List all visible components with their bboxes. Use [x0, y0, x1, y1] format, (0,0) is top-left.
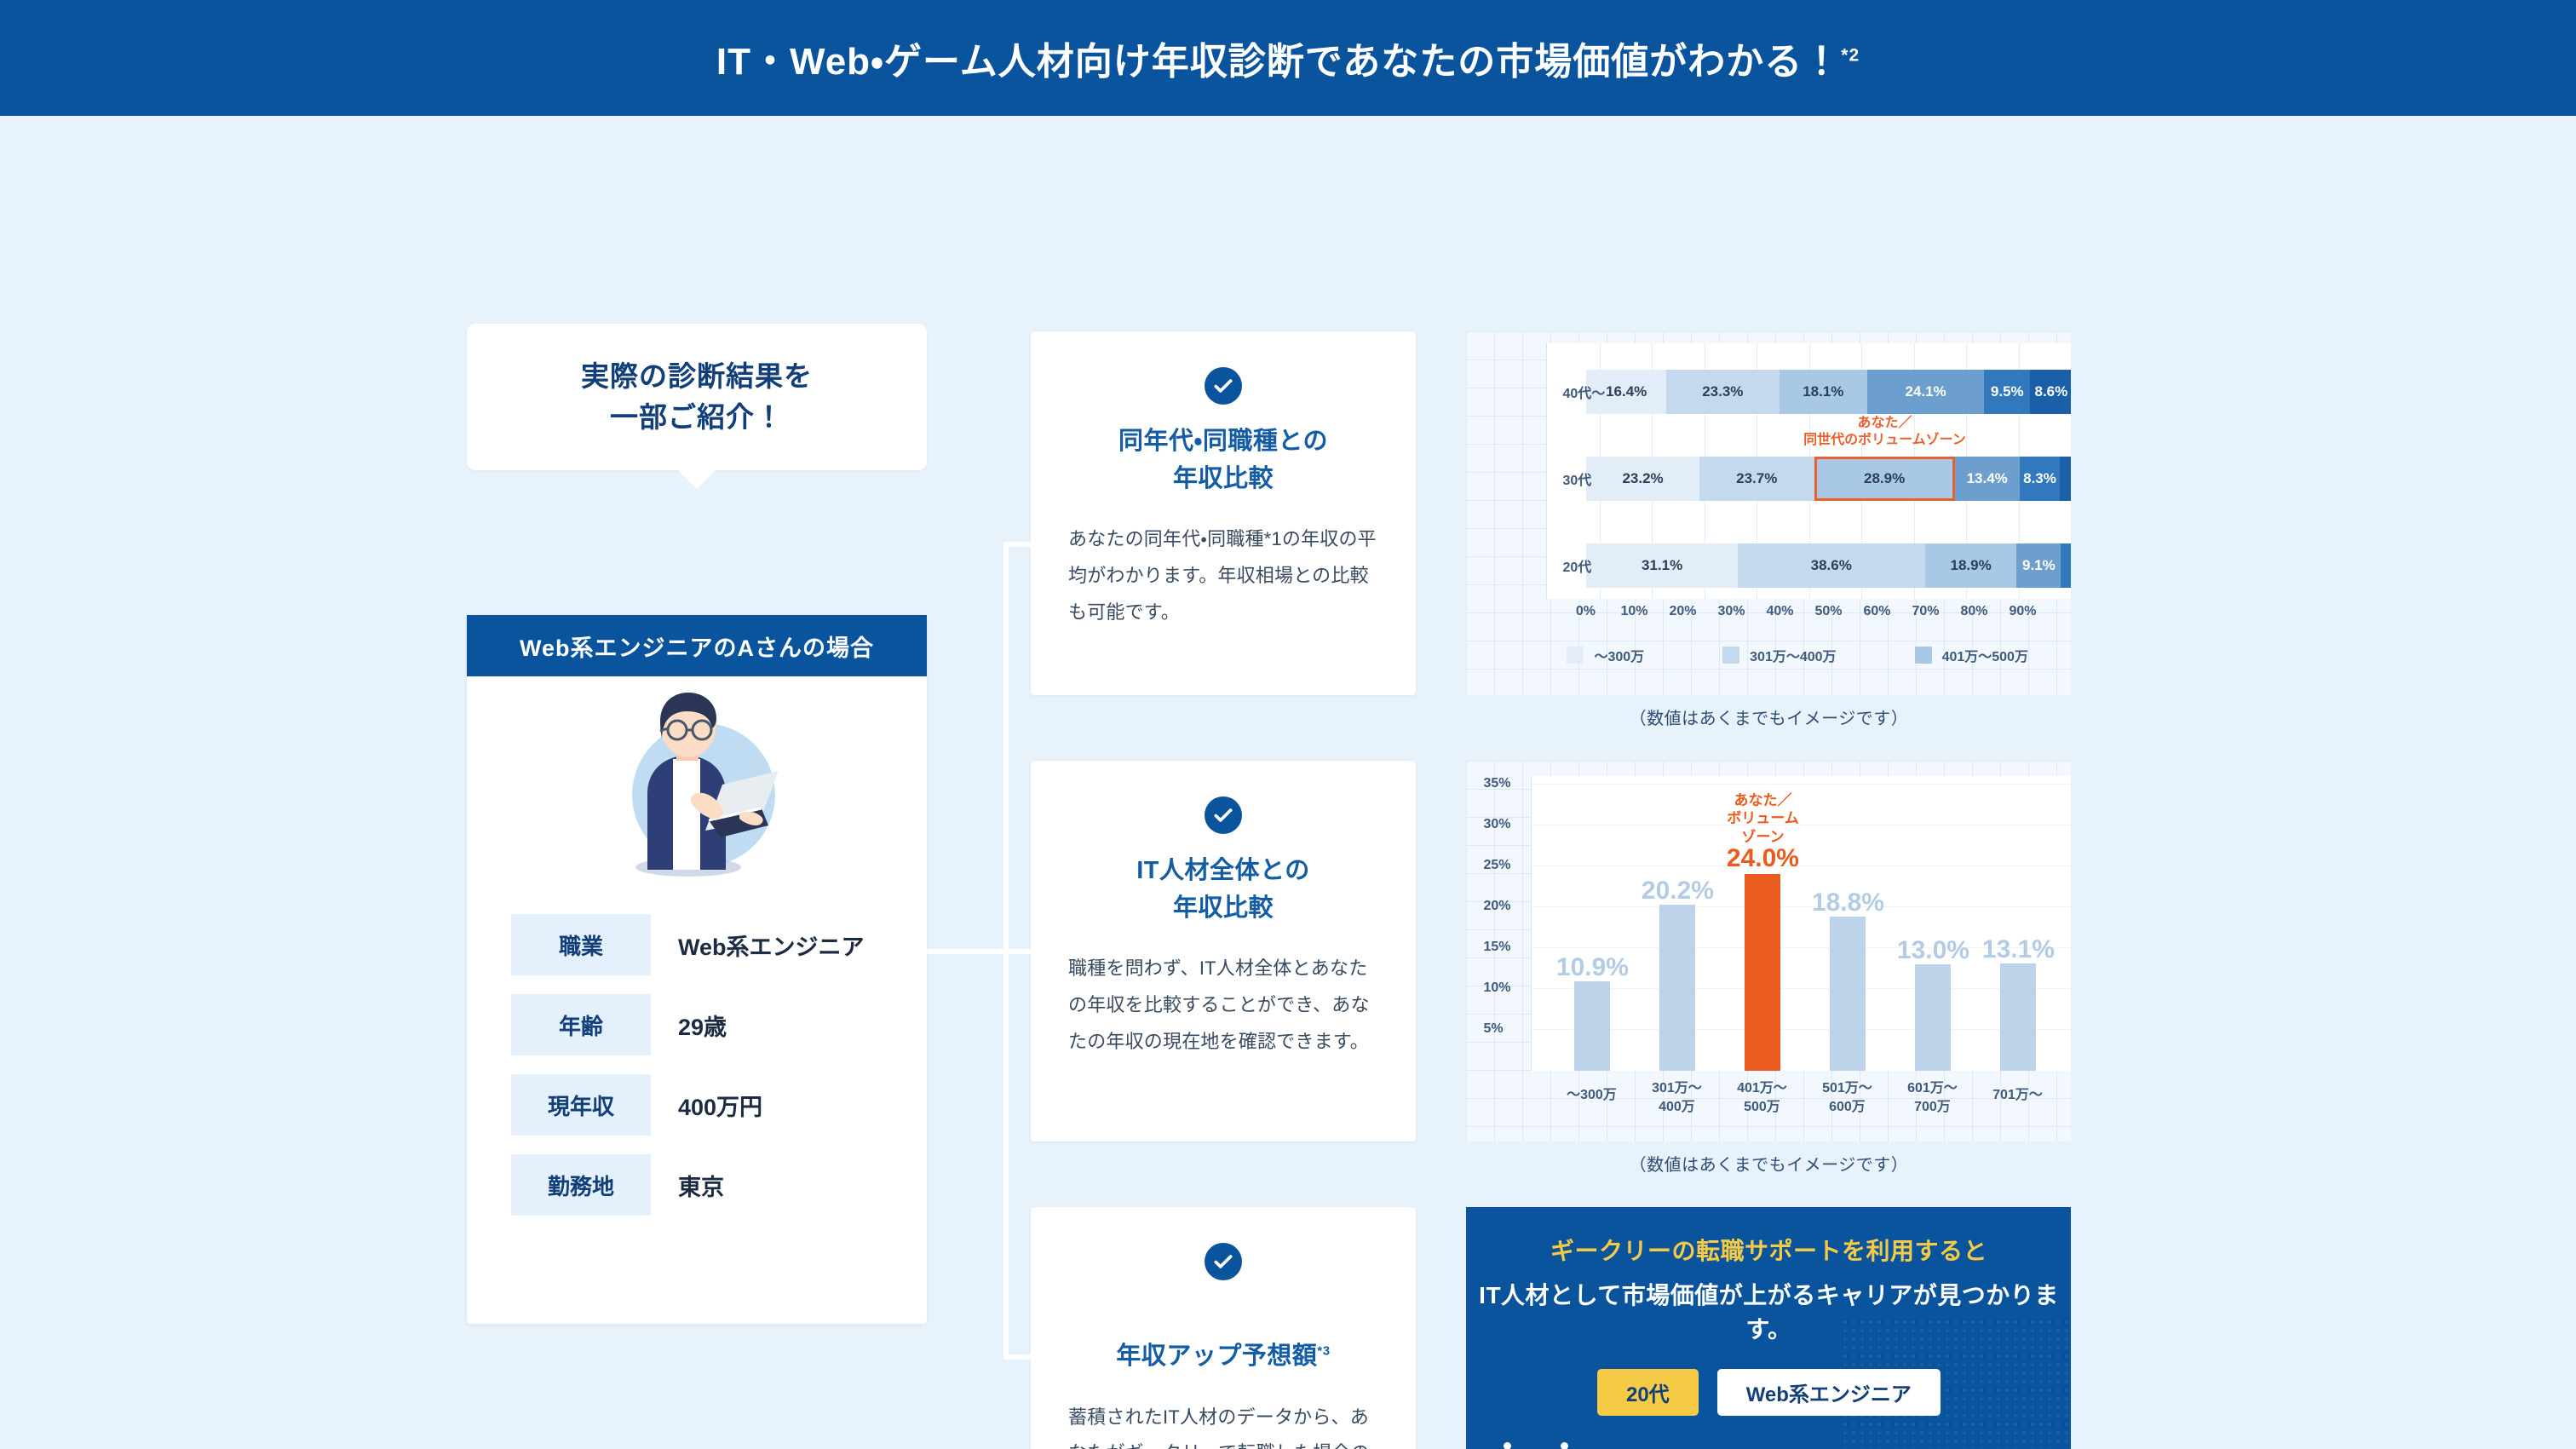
promo-tag-job: Web系エンジニア	[1717, 1369, 1941, 1416]
bar-segment	[2060, 457, 2071, 501]
legend-item: 301万～400万	[1722, 645, 1836, 665]
feature-card-1: 同年代・同職種との 年収比較 あなたの同年代・同職種*1の年収の平均がわかります…	[1031, 331, 1416, 695]
chart-1-category-label: 30代	[1562, 469, 1591, 489]
value-text: 18.8%	[1812, 888, 1884, 917]
feature-card-1-title: 同年代・同職種との 年収比較	[1068, 423, 1378, 497]
chart-2-panel: 10.9% 20.2% 24.0% 18.8% 13.0%	[1466, 761, 2071, 1141]
chart-1-xtick: 0%	[1576, 604, 1596, 619]
intro-bubble-line2: 一部ご紹介！	[610, 397, 784, 438]
chart-1-xtick: 70%	[1912, 604, 1939, 619]
intro-bubble: 実際の診断結果を 一部ご紹介！	[467, 324, 927, 470]
chart-2-value-label: 13.0%	[1897, 936, 1969, 965]
promo-line1: ギークリーの転職サポートを利用すると	[1466, 1233, 2071, 1267]
bar-segment: 24.1%	[1867, 370, 1984, 414]
xlabel-line1: 601万～	[1907, 1081, 1958, 1095]
value-text: 13.1%	[1982, 935, 2055, 963]
bar-segment: 9.5%	[1984, 370, 2030, 414]
page-header: IT・Web・ゲーム人材向け年収診断であなたの市場価値がわかる！*2	[0, 0, 2576, 116]
xlabel-line1: ～300万	[1567, 1088, 1617, 1102]
feature-card-3-title-footnote: *3	[1317, 1343, 1330, 1358]
xlabel-line1: 301万～	[1652, 1081, 1702, 1095]
promo-panel: ギークリーの転職サポートを利用すると IT人材として市場価値が上がるキャリアが見…	[1466, 1207, 2071, 1449]
table-row: 現年収 400万円	[511, 1065, 883, 1145]
chart-2-ytick: 5%	[1483, 1021, 1503, 1037]
profile-label: 現年収	[511, 1074, 651, 1136]
legend-swatch	[1915, 647, 1932, 664]
chart-1-xtick: 30%	[1717, 604, 1745, 619]
value-text: 10.9%	[1556, 953, 1629, 981]
chart-1-xaxis: 0% 10% 20% 30% 40% 50% 60% 70% 80% 90%	[1546, 604, 2071, 624]
bar-segment: 8.3%	[2020, 457, 2060, 501]
chart-2-ytick: 35%	[1483, 776, 1510, 791]
chart-1-xtick: 20%	[1669, 604, 1696, 619]
check-circle-icon	[1205, 1243, 1242, 1280]
page-title-text: IT・Web・ゲーム人材向け年収診断であなたの市場価値がわかる！	[716, 41, 1841, 83]
legend-label: ～300万	[1594, 645, 1644, 665]
profile-value: 29歳	[678, 1009, 727, 1042]
chart-2-xlabel: 301万～ 400万	[1652, 1079, 1702, 1116]
chart-2-value-label: 18.8%	[1812, 888, 1884, 917]
feature-card-3-desc: 蓄積されたIT人材のデータから、あなたがギークリーで転職した場合の年収アップ予想…	[1068, 1400, 1378, 1449]
chart-2-ytick: 25%	[1483, 858, 1510, 873]
table-row: 職業 Web系エンジニア	[511, 905, 883, 985]
zone-label-line2: ボリューム	[1727, 810, 1799, 826]
bar-segment: 23.3%	[1666, 370, 1780, 414]
bar-segment-highlight: 28.9%	[1814, 457, 1955, 501]
profile-label: 年齢	[511, 994, 651, 1055]
intro-bubble-tail	[678, 470, 716, 489]
chart-2-volume-zone-label: あなた／ ボリューム ゾーン	[1727, 791, 1799, 846]
value-text: 13.0%	[1897, 936, 1969, 964]
chart-2-bar	[1659, 905, 1695, 1071]
bar-segment: 13.4%	[1954, 457, 2019, 501]
xlabel-line1: 501万～	[1822, 1081, 1872, 1095]
value-text: 20.2%	[1642, 877, 1714, 905]
chart-2-ytick: 15%	[1483, 940, 1510, 955]
feature-card-2: IT人材全体との 年収比較 職種を問わず、IT人材全体とあなたの年収を比較するこ…	[1031, 761, 1416, 1141]
intro-bubble-line1: 実際の診断結果を	[581, 356, 813, 397]
bar-segment: 8.6%	[2030, 370, 2071, 414]
chart-1-legend: ～300万 301万～400万 401万～500万	[1567, 645, 2028, 665]
chart-2-bar-highlight	[1745, 874, 1780, 1071]
bar-segment	[2061, 543, 2071, 588]
chart-2-plot-area: 10.9% 20.2% 24.0% 18.8% 13.0%	[1531, 776, 2071, 1071]
feature-card-2-title-line2: 年収比較	[1173, 894, 1274, 922]
check-circle-icon	[1205, 367, 1242, 405]
feature-card-3-title-line1: 年収アップ予想額	[1116, 1343, 1317, 1370]
check-mark-icon	[1212, 804, 1234, 826]
promo-main-figure: 平均 年収アップ額 ＋ 87 万円	[1466, 1445, 2071, 1449]
chart-2-value-label-highlight: 24.0%	[1727, 844, 1799, 873]
chart-1-wrap: 16.4% 23.3% 18.1% 24.1% 9.5% 8.6% 23.2% …	[1466, 331, 2071, 729]
chart-2-xlabel: 701万～	[1992, 1086, 2043, 1105]
check-mark-icon	[1212, 375, 1234, 397]
page-title-footnote: *2	[1841, 45, 1860, 65]
bar-segment: 23.2%	[1586, 457, 1699, 501]
chart-2-value-label: 13.1%	[1982, 935, 2055, 964]
chart-1-plot-area: 16.4% 23.3% 18.1% 24.1% 9.5% 8.6% 23.2% …	[1546, 343, 2071, 599]
chart-1-xtick: 10%	[1620, 604, 1647, 619]
bar-segment: 18.1%	[1780, 370, 1867, 414]
table-row: 勤務地 東京	[511, 1145, 883, 1225]
profile-table: 職業 Web系エンジニア 年齢 29歳 現年収 400万円 勤務地 東京	[467, 900, 927, 1225]
chart-2-bar	[1915, 964, 1951, 1071]
profile-label: 職業	[511, 914, 651, 975]
stacked-bar-row-40s: 16.4% 23.3% 18.1% 24.1% 9.5% 8.6%	[1586, 370, 2071, 414]
chart-2-ytick: 10%	[1483, 980, 1510, 996]
chart-1-xtick: 90%	[2009, 604, 2036, 619]
chart-1-xtick: 80%	[1960, 604, 1987, 619]
chart-2-ytick: 30%	[1483, 817, 1510, 832]
chart-1-xtick: 50%	[1814, 604, 1842, 619]
feature-card-1-desc: あなたの同年代・同職種*1の年収の平均がわかります。年収相場との比較も可能です。	[1068, 521, 1378, 631]
zone-label-line2: 同世代のボリュームゾーン	[1803, 432, 1966, 449]
value-text: 24.0%	[1727, 844, 1799, 872]
chart-2-value-label: 20.2%	[1642, 877, 1714, 906]
promo-tag-age: 20代	[1597, 1369, 1699, 1416]
chart-2-bar	[2000, 963, 2036, 1071]
promo-line2: IT人材として市場価値が上がるキャリアが見つかります。	[1466, 1277, 2071, 1345]
chart-1-volume-zone-label: あなた／ 同世代のボリュームゾーン	[1803, 415, 1966, 449]
page-body: 実際の診断結果を 一部ご紹介！ Web系エンジニアのAさんの場合	[0, 116, 2576, 1449]
zone-label-line1: あなた／	[1803, 415, 1966, 432]
profile-value: 400万円	[678, 1089, 762, 1122]
intro-bubble-wrap: 実際の診断結果を 一部ご紹介！	[467, 324, 927, 470]
bar-segment: 18.9%	[1925, 543, 2017, 588]
check-circle-icon	[1205, 796, 1242, 834]
chart-2-xlabel: ～300万	[1567, 1086, 1617, 1105]
bar-segment: 9.1%	[2016, 543, 2061, 588]
feature-row-1: 同年代・同職種との 年収比較 あなたの同年代・同職種*1の年収の平均がわかります…	[1031, 331, 2071, 729]
feature-card-3: 年収アップ予想額*3 蓄積されたIT人材のデータから、あなたがギークリーで転職し…	[1031, 1207, 1416, 1449]
chart-1-panel: 16.4% 23.3% 18.1% 24.1% 9.5% 8.6% 23.2% …	[1466, 331, 2071, 695]
legend-label: 401万～500万	[1942, 645, 2028, 665]
feature-row-2: IT人材全体との 年収比較 職種を問わず、IT人材全体とあなたの年収を比較するこ…	[1031, 761, 2071, 1176]
avatar	[467, 676, 927, 900]
profile-value: 東京	[678, 1169, 724, 1202]
connector-stem	[927, 949, 1009, 954]
profile-value: Web系エンジニア	[678, 929, 865, 962]
chart-1-xtick: 40%	[1766, 604, 1793, 619]
chart-2-xlabel: 501万～ 600万	[1822, 1079, 1872, 1116]
legend-label: 301万～400万	[1750, 645, 1836, 665]
chart-2-wrap: 10.9% 20.2% 24.0% 18.8% 13.0%	[1466, 761, 2071, 1176]
stacked-bar-row-20s: 31.1% 38.6% 18.9% 9.1%	[1586, 543, 2071, 588]
zone-label-line1: あなた／	[1734, 792, 1791, 808]
legend-item: ～300万	[1567, 645, 1644, 665]
profile-card-header: Web系エンジニアのAさんの場合	[467, 615, 927, 676]
person-with-laptop-icon	[595, 686, 799, 890]
xlabel-line2: 400万	[1659, 1100, 1695, 1114]
chart-2-value-label: 10.9%	[1556, 953, 1629, 982]
bar-segment: 23.7%	[1699, 457, 1814, 501]
profile-label: 勤務地	[511, 1154, 651, 1216]
check-mark-icon	[1212, 1251, 1234, 1273]
chart-1-xtick: 60%	[1863, 604, 1890, 619]
page-title: IT・Web・ゲーム人材向け年収診断であなたの市場価値がわかる！*2	[716, 31, 1860, 85]
legend-swatch	[1722, 647, 1739, 664]
chart-2-xlabel: 601万～ 700万	[1907, 1079, 1958, 1116]
legend-item: 401万～500万	[1915, 645, 2028, 665]
feature-card-3-title: 年収アップ予想額*3	[1068, 1338, 1378, 1376]
feature-rows: 同年代・同職種との 年収比較 あなたの同年代・同職種*1の年収の平均がわかります…	[1031, 331, 2071, 1449]
feature-card-2-desc: 職種を問わず、IT人材全体とあなたの年収を比較することができ、あなたの年収の現在…	[1068, 951, 1378, 1061]
table-row: 年齢 29歳	[511, 985, 883, 1065]
bar-segment: 38.6%	[1738, 543, 1925, 588]
zone-label-line3: ゾーン	[1741, 829, 1784, 845]
chart-2-caption: （数値はあくまでもイメージです）	[1466, 1151, 2071, 1176]
promo-tags: 20代 Web系エンジニア	[1466, 1369, 2071, 1416]
connector-branch-1	[1003, 542, 1032, 547]
feature-card-2-title: IT人材全体との 年収比較	[1068, 853, 1378, 927]
feature-card-1-title-line1: 同年代・同職種との	[1118, 428, 1328, 455]
xlabel-line2: 700万	[1914, 1100, 1951, 1114]
xlabel-line2: 600万	[1829, 1100, 1866, 1114]
profile-card: Web系エンジニアのAさんの場合	[467, 615, 927, 1324]
xlabel-line2: 500万	[1744, 1100, 1780, 1114]
emphasis-dots-icon	[1504, 1442, 1568, 1449]
promo-amount: 87	[1892, 1445, 1981, 1449]
feature-row-3: 年収アップ予想額*3 蓄積されたIT人材のデータから、あなたがギークリーで転職し…	[1031, 1207, 2071, 1449]
connector-branch-3	[1003, 1354, 1032, 1360]
feature-card-2-title-line1: IT人材全体との	[1136, 857, 1309, 884]
promo-wrap: ギークリーの転職サポートを利用すると IT人材として市場価値が上がるキャリアが見…	[1466, 1207, 2071, 1449]
chart-2-xlabel: 401万～ 500万	[1737, 1079, 1787, 1116]
legend-swatch	[1567, 647, 1584, 664]
chart-2-bar	[1830, 917, 1866, 1071]
chart-2-ytick: 20%	[1483, 899, 1510, 914]
xlabel-line1: 701万～	[1992, 1088, 2043, 1102]
chart-2-bar	[1574, 981, 1610, 1071]
bar-segment: 31.1%	[1586, 543, 1737, 588]
chart-1-category-label: 20代	[1562, 555, 1591, 576]
feature-card-1-title-line2: 年収比較	[1173, 465, 1274, 492]
chart-1-caption: （数値はあくまでもイメージです）	[1466, 704, 2071, 729]
xlabel-line1: 401万～	[1737, 1081, 1787, 1095]
stacked-bar-row-30s: 23.2% 23.7% 28.9% 13.4% 8.3%	[1586, 457, 2071, 501]
chart-1-category-label: 40代～	[1562, 382, 1605, 402]
